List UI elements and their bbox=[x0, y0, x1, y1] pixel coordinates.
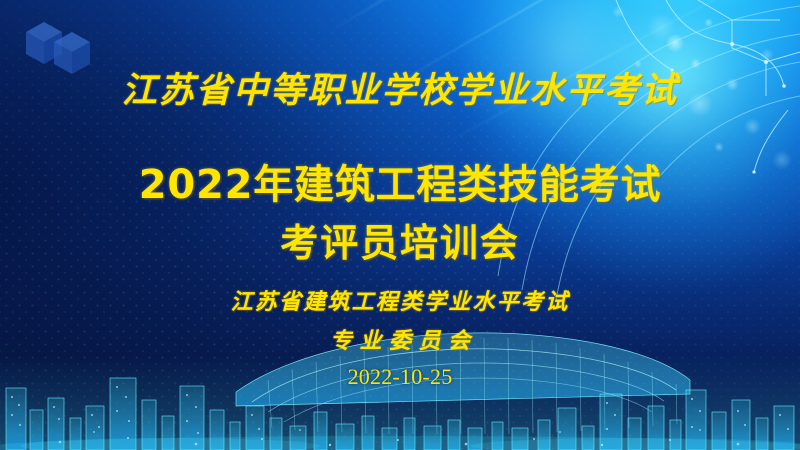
main-title: 2022年建筑工程类技能考试 bbox=[0, 152, 800, 210]
organization-title: 江苏省中等职业学校学业水平考试 bbox=[0, 62, 800, 113]
committee-line-2: 专业委员会 bbox=[0, 323, 800, 355]
event-date: 2022-10-25 bbox=[0, 364, 800, 390]
sub-title: 考评员培训会 bbox=[0, 212, 800, 267]
committee-line-1: 江苏省建筑工程类学业水平考试 bbox=[0, 284, 800, 316]
slide-canvas: 江苏省中等职业学校学业水平考试 2022年建筑工程类技能考试 考评员培训会 江苏… bbox=[0, 0, 800, 450]
